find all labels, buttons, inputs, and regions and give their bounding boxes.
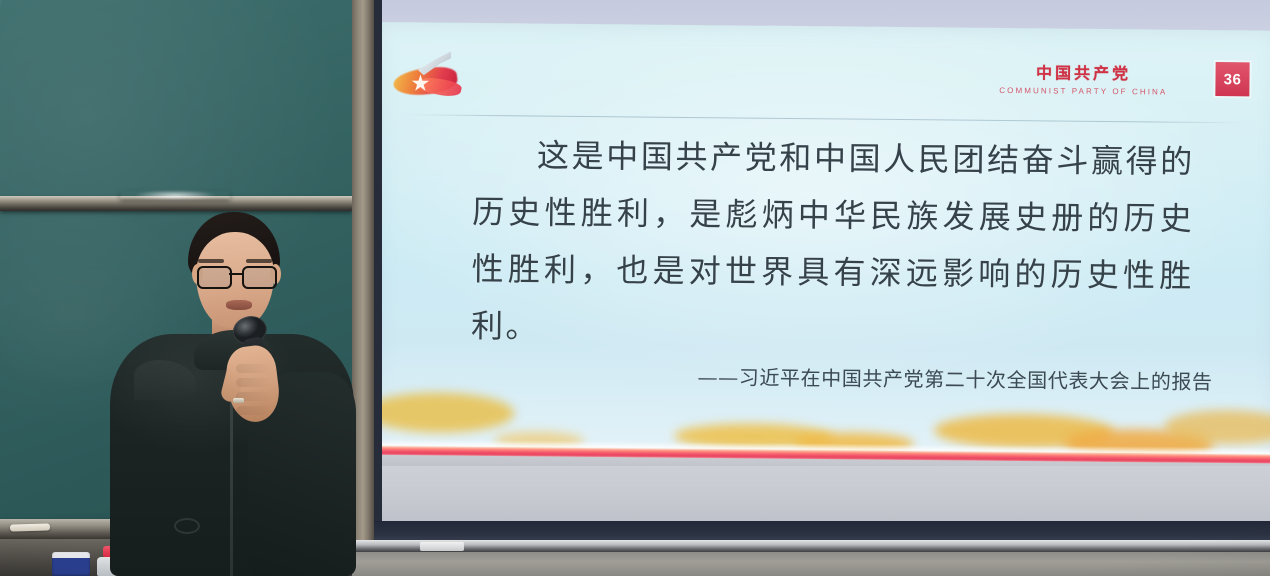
- slide-page-number-badge: 36: [1215, 62, 1249, 96]
- projected-slide: 中国共产党 COMMUNIST PARTY OF CHINA 36 这是中国共产…: [382, 22, 1270, 475]
- jacket-pocket: [174, 518, 200, 534]
- finger-crease: [236, 364, 272, 373]
- chalk-dust-smear: [120, 191, 230, 199]
- golden-cloud-decoration: [382, 380, 1270, 475]
- rail-clip: [420, 542, 464, 551]
- chalk-stick: [10, 523, 50, 531]
- presenter: [96, 212, 366, 576]
- glasses-icon: [196, 266, 276, 286]
- slide-header-divider: [407, 114, 1247, 123]
- classroom-scene: 中国共产党 COMMUNIST PARTY OF CHINA 36 这是中国共产…: [0, 0, 1270, 576]
- trumpet-ribbon-ornament-icon: [393, 48, 473, 101]
- glasses-lens-left: [197, 266, 232, 289]
- blue-cup: [52, 552, 90, 576]
- finger-ring: [233, 398, 244, 403]
- presenter-eyebrow-left: [198, 259, 224, 263]
- glasses-bridge: [229, 273, 243, 275]
- slide-body-paragraph: 这是中国共产党和中国人民团结奋斗赢得的历史性胜利，是彪炳中华民族发展史册的历史性…: [471, 137, 1195, 346]
- presenter-eyebrow-right: [246, 259, 272, 263]
- finger-crease: [236, 378, 272, 387]
- projection-screen-surface: 中国共产党 COMMUNIST PARTY OF CHINA 36 这是中国共产…: [382, 0, 1270, 521]
- paragraph-indent: [473, 166, 537, 167]
- slide-body-text: 这是中国共产党和中国人民团结奋斗赢得的历史性胜利，是彪炳中华民族发展史册的历史性…: [471, 127, 1195, 362]
- cpc-brand-chinese: 中国共产党: [999, 66, 1167, 84]
- screen-mounting-rail: [352, 540, 1270, 552]
- wall-below-rail: [352, 552, 1270, 576]
- glasses-lens-right: [242, 266, 277, 289]
- cpc-brand-block: 中国共产党 COMMUNIST PARTY OF CHINA: [999, 66, 1167, 97]
- cloud-shape: [382, 392, 514, 433]
- screen-blank-area: [382, 466, 1270, 521]
- cpc-brand-english: COMMUNIST PARTY OF CHINA: [999, 87, 1167, 97]
- screen-bottom-band: [374, 521, 1270, 540]
- presenter-mouth: [226, 300, 252, 310]
- finger-crease: [236, 406, 272, 415]
